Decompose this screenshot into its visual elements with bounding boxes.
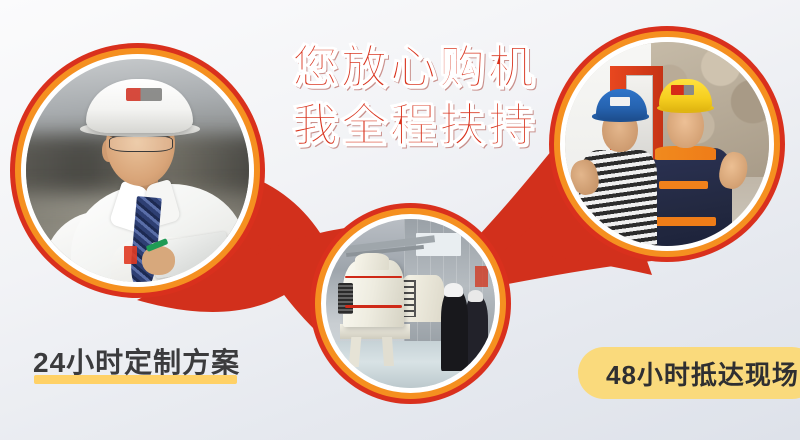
ring-orange: [15, 48, 260, 293]
ring-white: [560, 37, 774, 251]
worker-2-chest-stripe: [659, 181, 708, 189]
machine-red-stripe-1: [345, 276, 402, 279]
ring-white: [321, 214, 500, 393]
headline-line-1: 您放心购机: [292, 38, 537, 96]
photo-factory: [326, 219, 495, 388]
red-panel: [475, 266, 489, 286]
shirt-badge: [124, 246, 137, 264]
ring-orange: [554, 31, 780, 257]
inspector-1: [441, 290, 468, 371]
label-left-text: 24小时定制方案: [33, 341, 240, 381]
ring-orange: [315, 208, 506, 399]
eyeglasses: [109, 135, 173, 153]
machine-red-stripe-2: [345, 305, 402, 308]
inspector-1-hardhat: [444, 283, 463, 297]
photo-circle-left: [10, 43, 265, 298]
crusher-machine-top: [355, 253, 389, 270]
label-24h-custom-plan: 24小时定制方案: [33, 341, 240, 381]
headline: 您放心购机 我全程扶持: [292, 38, 537, 154]
promo-banner: 您放心购机 我全程扶持 24小时定制方案 48小时抵达现场: [0, 0, 800, 440]
worker-2-uniform: [651, 148, 733, 246]
hardhat-logo: [126, 88, 162, 101]
label-right-text: 48小时抵达现场: [578, 355, 799, 392]
photo-engineer: [26, 59, 249, 282]
inspector-2-hardhat: [468, 290, 483, 302]
machine-vent: [338, 283, 353, 313]
worker-1-hardhat-logo: [610, 97, 630, 106]
worker-2-shoulder-stripe: [655, 146, 716, 160]
headline-line-2: 我全程扶持: [292, 96, 537, 154]
inspector-2: [465, 297, 489, 368]
ring-white: [21, 54, 254, 287]
label-48h-onsite-pill: 48小时抵达现场: [578, 347, 800, 399]
photo-circle-right: [549, 26, 785, 262]
photo-workers: [565, 42, 769, 246]
worker-2-hardhat-logo: [671, 85, 693, 95]
photo-circle-center: [310, 203, 511, 404]
worker-2-waist-stripe: [655, 217, 716, 225]
